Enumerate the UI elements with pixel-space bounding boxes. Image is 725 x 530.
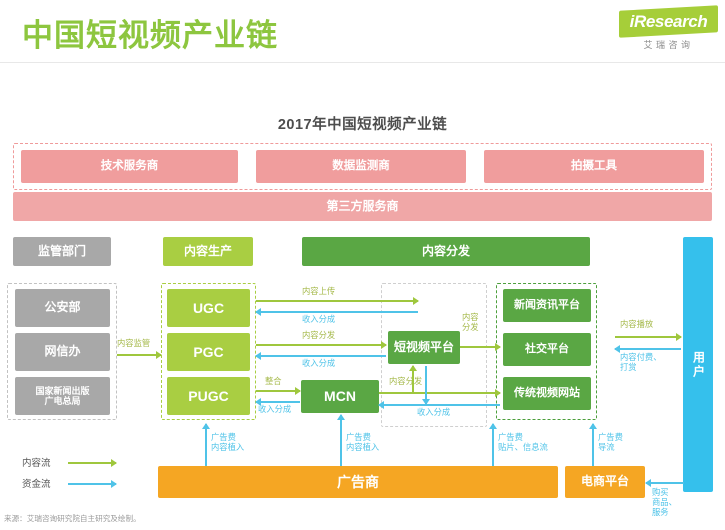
distribution-channel-1[interactable]: 社交平台 xyxy=(503,333,591,366)
legend-item-content-flow: 内容流 xyxy=(22,455,51,469)
user-column[interactable]: 用户 xyxy=(683,237,713,492)
label-ad-fee-channels-line1: 广告费 xyxy=(498,432,523,442)
label-content-pay: 内容付费、 打赏 xyxy=(620,352,662,372)
logo-text: iResearch xyxy=(619,10,718,35)
regulator-box-0[interactable]: 公安部 xyxy=(15,289,110,327)
label-content-play: 内容播放 xyxy=(620,319,653,330)
label-integration: 整合 xyxy=(265,376,282,387)
legend-label-capital-flow: 资金流 xyxy=(22,479,51,490)
label-revenue-share-3: 收入分成 xyxy=(258,404,291,415)
producer-box-ugc[interactable]: UGC xyxy=(167,289,250,327)
label-purchase-line3: 服务 xyxy=(652,507,669,517)
legend-label-content-flow: 内容流 xyxy=(22,458,51,469)
chart-title: 2017年中国短视频产业链 xyxy=(0,113,725,134)
third-party-item-0[interactable]: 技术服务商 xyxy=(21,150,238,183)
logo-subtitle: 艾瑞咨询 xyxy=(619,38,718,51)
column-header-distribution: 内容分发 xyxy=(302,237,590,266)
label-content-distribute-3-line1: 内容 xyxy=(462,312,479,322)
iresearch-logo: iResearch 艾瑞咨询 xyxy=(613,8,718,56)
label-revenue-share-4: 收入分成 xyxy=(417,407,450,418)
label-ad-fee-ecommerce: 广告费 导流 xyxy=(598,432,623,452)
third-party-item-1[interactable]: 数据监测商 xyxy=(256,150,466,183)
regulator-box-1[interactable]: 网信办 xyxy=(15,333,110,371)
label-ad-fee-production: 广告费 内容植入 xyxy=(211,432,244,452)
label-ad-fee-production-line2: 内容植入 xyxy=(211,442,244,452)
regulator-box-2[interactable]: 国家新闻出版 广电总局 xyxy=(15,377,110,415)
label-content-distribute-3: 内容 分发 xyxy=(462,313,479,332)
label-ad-fee-ecommerce-line1: 广告费 xyxy=(598,432,623,442)
label-content-upload: 内容上传 xyxy=(302,286,335,297)
label-ad-fee-channels-line2: 贴片、信息流 xyxy=(498,442,548,452)
label-ad-fee-mcn-line1: 广告费 xyxy=(346,432,371,442)
label-content-distribute-1: 内容分发 xyxy=(302,330,335,341)
mcn-box[interactable]: MCN xyxy=(301,380,379,413)
distribution-channel-0[interactable]: 新闻资讯平台 xyxy=(503,289,591,322)
label-purchase-line1: 购买 xyxy=(652,487,669,497)
label-content-distribute-2: 内容分发 xyxy=(389,376,422,387)
legend-item-capital-flow: 资金流 xyxy=(22,476,51,490)
column-header-regulator: 监管部门 xyxy=(13,237,111,266)
label-ad-fee-mcn: 广告费 内容植入 xyxy=(346,432,379,452)
label-content-supervision: 内容监管 xyxy=(117,338,150,349)
label-purchase-line2: 商品、 xyxy=(652,497,677,507)
advertiser-bar[interactable]: 广告商 xyxy=(158,466,558,498)
producer-box-pgc[interactable]: PGC xyxy=(167,333,250,371)
label-ad-fee-ecommerce-line2: 导流 xyxy=(598,442,615,452)
ecommerce-box[interactable]: 电商平台 xyxy=(565,466,645,498)
source-note: 来源：艾瑞咨询研究院自主研究及绘制。 xyxy=(4,513,141,524)
third-party-band-label: 第三方服务商 xyxy=(13,192,712,221)
label-ad-fee-mcn-line2: 内容植入 xyxy=(346,442,379,452)
page-title: 中国短视频产业链 xyxy=(22,10,278,55)
label-ad-fee-channels: 广告费 贴片、信息流 xyxy=(498,432,548,452)
third-party-item-2[interactable]: 拍摄工具 xyxy=(484,150,704,183)
label-content-distribute-3-line2: 分发 xyxy=(462,322,479,332)
label-ad-fee-production-line1: 广告费 xyxy=(211,432,236,442)
label-revenue-share-2: 收入分成 xyxy=(302,358,335,369)
logo-dot-icon xyxy=(629,7,632,10)
label-content-pay-line2: 打赏 xyxy=(620,362,637,372)
user-label: 用户 xyxy=(691,351,706,379)
regulator-box-2-line2: 广电总局 xyxy=(44,396,80,406)
label-purchase: 购买 商品、 服务 xyxy=(652,487,677,517)
distribution-channel-2[interactable]: 传统视频网站 xyxy=(503,377,591,410)
label-content-pay-line1: 内容付费、 xyxy=(620,352,662,362)
producer-box-pugc[interactable]: PUGC xyxy=(167,377,250,415)
column-header-production: 内容生产 xyxy=(163,237,253,266)
label-revenue-share-1: 收入分成 xyxy=(302,314,335,325)
header-divider xyxy=(0,62,725,63)
regulator-box-2-line1: 国家新闻出版 xyxy=(35,386,89,396)
